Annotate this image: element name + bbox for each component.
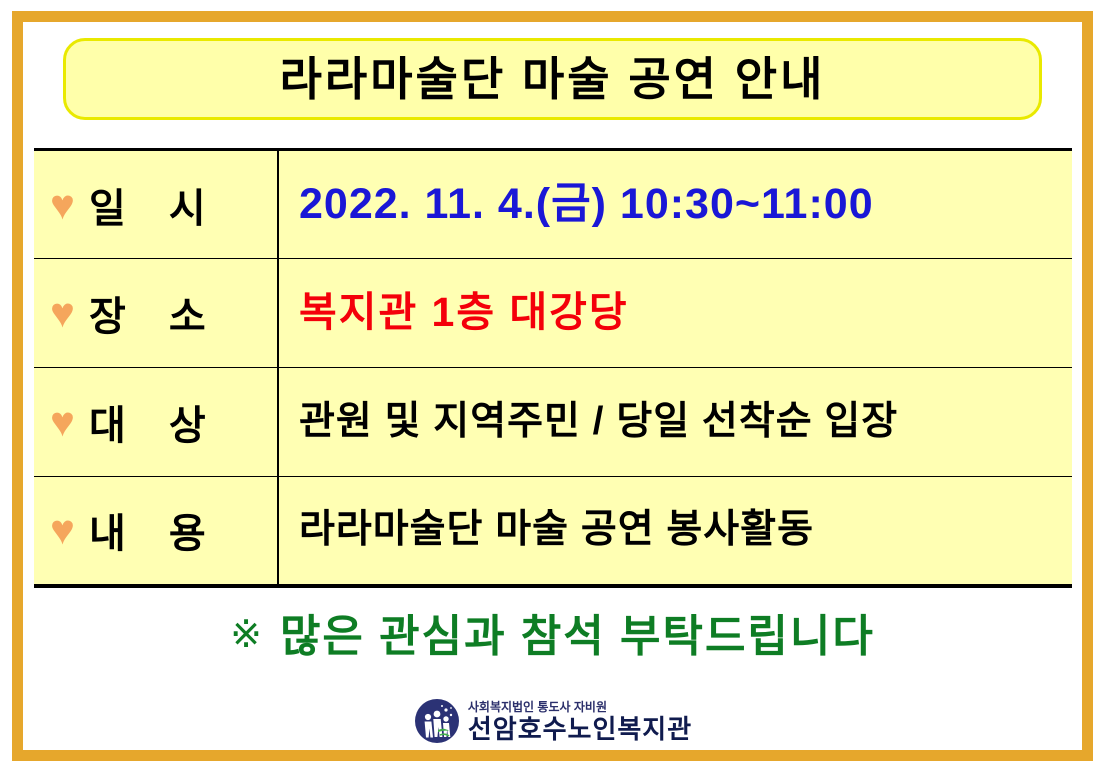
footer-note-text: 많은 관심과 참석 부탁드립니다 (280, 612, 875, 661)
heart-icon: ♥ (50, 292, 75, 334)
row-label: 대 상 (89, 393, 222, 451)
row-label: 장 소 (89, 284, 222, 342)
title-banner: 라라마술단 마술 공연 안내 (63, 38, 1042, 120)
table-row-label-cell: ♥ 일 시 (34, 150, 278, 259)
event-info-table: ♥ 일 시 2022. 11. 4.(금) 10:30~11:00 ♥ 장 소 (34, 148, 1072, 588)
poster-canvas: 라라마술단 마술 공연 안내 ♥ 일 시 2022. 11. 4.(금) 10:… (0, 0, 1105, 782)
table-row-value-cell: 관원 및 지역주민 / 당일 선착순 입장 (278, 368, 1072, 477)
logo-subtitle: 사회복지법인 통도사 자비원 (468, 701, 692, 713)
table-row-value-cell: 2022. 11. 4.(금) 10:30~11:00 (278, 150, 1072, 259)
heart-icon: ♥ (50, 509, 75, 551)
logo-text-block: 사회복지법인 통도사 자비원 선암호수노인복지관 (468, 701, 692, 742)
row-value-datetime: 2022. 11. 4.(금) 10:30~11:00 (299, 180, 874, 228)
row-label: 일 시 (89, 176, 222, 234)
heart-icon: ♥ (50, 184, 75, 226)
reference-mark-icon: ※ (230, 614, 262, 656)
page-title: 라라마술단 마술 공연 안내 (280, 56, 826, 102)
table-row: ♥ 대 상 관원 및 지역주민 / 당일 선착순 입장 (34, 368, 1072, 477)
table-row-value-cell: 라라마술단 마술 공연 봉사활동 (278, 477, 1072, 586)
table-row-label-cell: ♥ 대 상 (34, 368, 278, 477)
heart-icon: ♥ (50, 401, 75, 443)
row-value-location: 복지관 1층 대강당 (299, 289, 629, 335)
row-label: 내 용 (89, 501, 222, 559)
table-row: ♥ 내 용 라라마술단 마술 공연 봉사활동 (34, 477, 1072, 586)
row-value-audience: 관원 및 지역주민 / 당일 선착순 입장 (299, 400, 898, 443)
table-row-value-cell: 복지관 1층 대강당 (278, 259, 1072, 368)
organization-logo: 사회복지법인 통도사 자비원 선암호수노인복지관 (0, 697, 1105, 745)
logo-title: 선암호수노인복지관 (468, 716, 692, 742)
footer-note: ※많은 관심과 참석 부탁드립니다 (0, 600, 1105, 664)
table-row: ♥ 일 시 2022. 11. 4.(금) 10:30~11:00 (34, 150, 1072, 259)
row-value-content: 라라마술단 마술 공연 봉사활동 (299, 508, 814, 551)
table-row-label-cell: ♥ 장 소 (34, 259, 278, 368)
table-row-label-cell: ♥ 내 용 (34, 477, 278, 586)
table-row: ♥ 장 소 복지관 1층 대강당 (34, 259, 1072, 368)
welfare-center-emblem-icon (413, 697, 461, 745)
